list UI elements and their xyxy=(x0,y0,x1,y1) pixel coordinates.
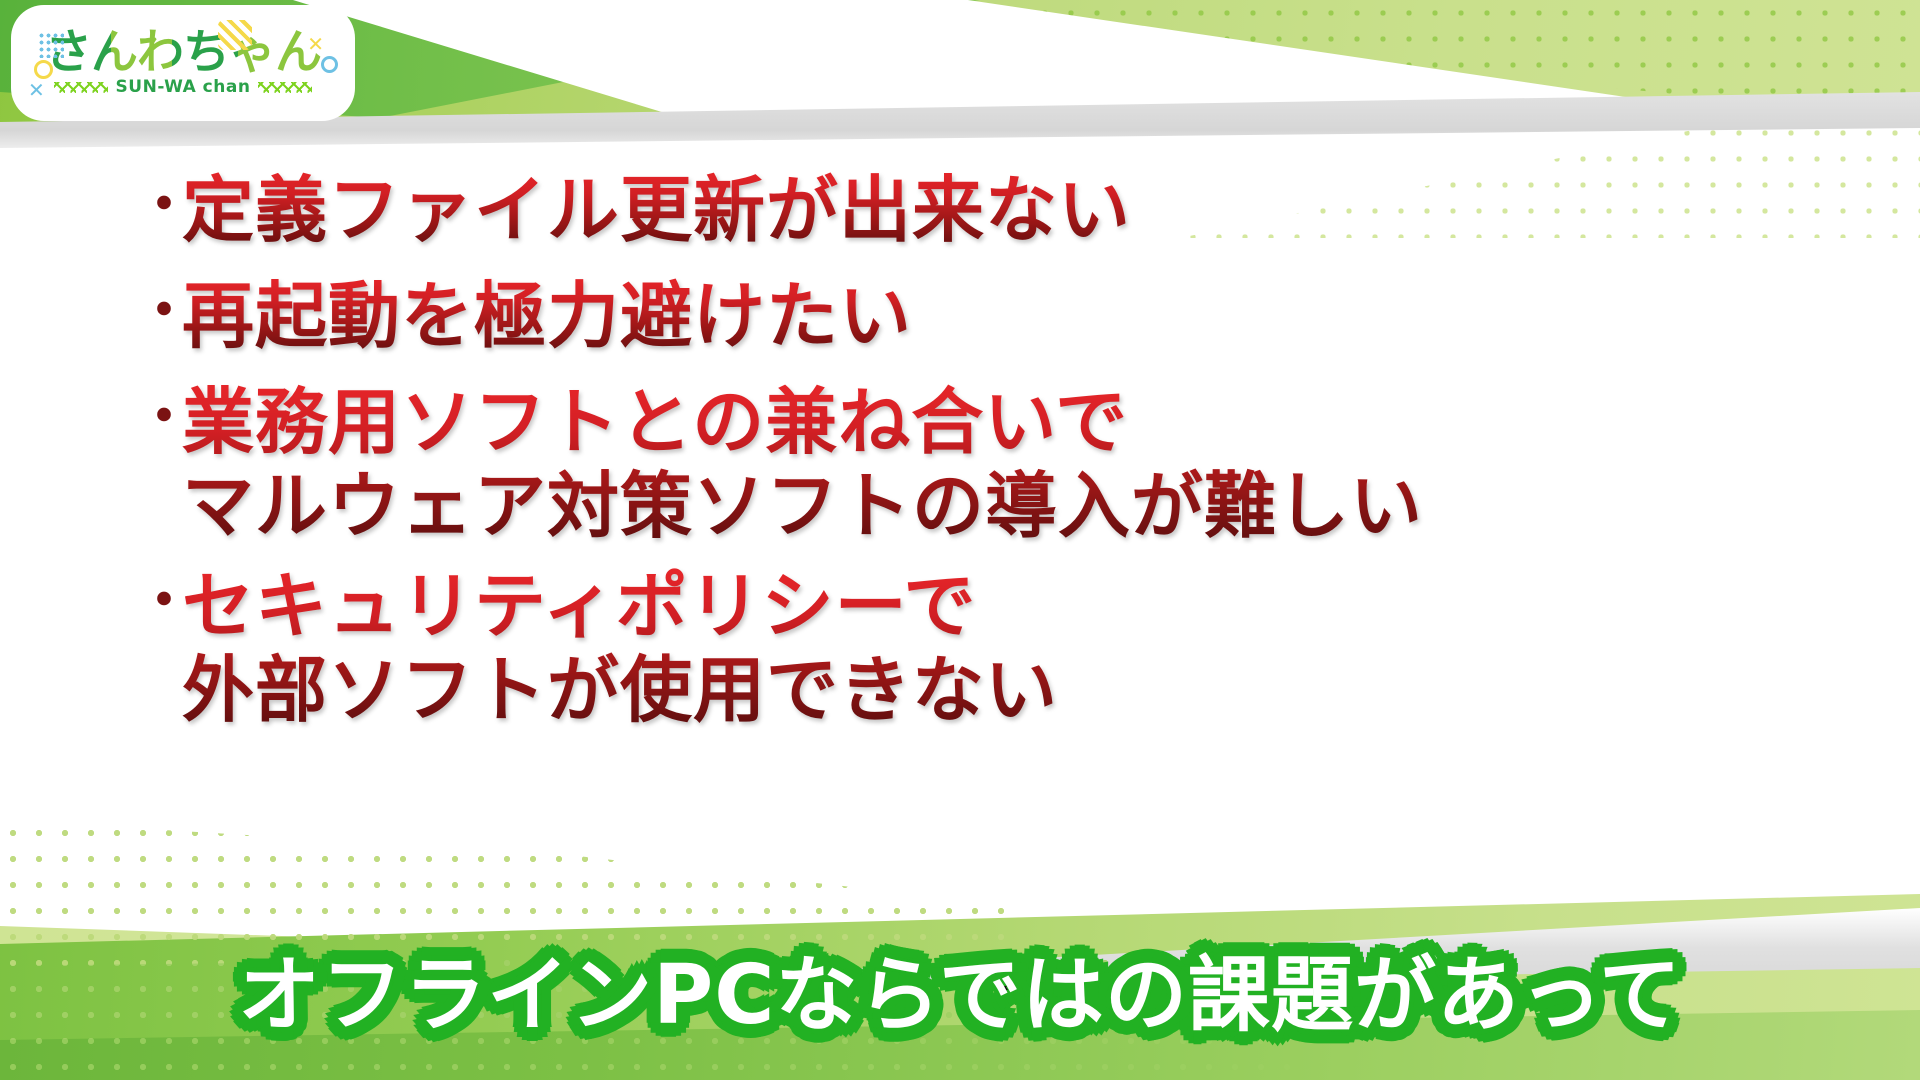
sunwa-chan-logo: ✕ ✕ さんわちゃん SUN-WA chan xyxy=(18,12,348,114)
logo-sub-text: SUN-WA chan xyxy=(116,77,251,97)
top-dot-pattern xyxy=(980,0,1920,140)
yellow-x-icon: ✕ xyxy=(307,34,324,54)
blue-x-icon: ✕ xyxy=(28,80,45,100)
bullet-text-2: 再起動を極力避けたい xyxy=(182,274,1836,358)
bullet-marker-icon: ・ xyxy=(136,376,182,460)
zigzag-right-icon xyxy=(258,82,312,93)
bullet-text-1: 定義ファイル更新が出来ない xyxy=(182,168,1836,252)
bottom-dot-pattern xyxy=(0,820,1100,1040)
bottom-dark-dot-pattern xyxy=(0,950,1300,1080)
bullet-text-3: 業務用ソフトとの兼ね合いで マルウェア対策ソフトの導入が難しい xyxy=(182,380,1836,548)
bullet-marker-icon: ・ xyxy=(136,164,182,248)
list-item: ・ 定義ファイル更新が出来ない xyxy=(136,168,1836,252)
bullet-marker-icon: ・ xyxy=(136,560,182,644)
logo-sub-row: SUN-WA chan xyxy=(54,77,313,97)
subtitle-caption: オフラインPCならではの課題があって xyxy=(0,948,1920,1044)
zigzag-left-icon xyxy=(54,82,108,93)
subtitle-caption-text: オフラインPCならではの課題があって xyxy=(238,948,1682,1044)
bottom-pale-green-band xyxy=(0,850,1920,1080)
list-item: ・ 再起動を極力避けたい xyxy=(136,274,1836,358)
top-white-diagonal xyxy=(260,0,1660,160)
list-item: ・ セキュリティポリシーで 外部ソフトが使用できない xyxy=(136,564,1836,732)
bottom-green-band xyxy=(0,870,1920,1080)
bullet-list: ・ 定義ファイル更新が出来ない ・ 再起動を極力避けたい ・ 業務用ソフトとの兼… xyxy=(136,168,1836,748)
grid-dots-icon xyxy=(38,32,64,58)
list-item: ・ 業務用ソフトとの兼ね合いで マルウェア対策ソフトの導入が難しい xyxy=(136,380,1836,548)
blue-circle-icon xyxy=(321,56,338,73)
bullet-text-4: セキュリティポリシーで 外部ソフトが使用できない xyxy=(182,564,1836,732)
yellow-circle-icon xyxy=(34,60,53,79)
bottom-deep-green-strip xyxy=(0,1010,1920,1080)
yellow-stripe-icon xyxy=(218,20,252,50)
slide-canvas: ✕ ✕ さんわちゃん SUN-WA chan ・ 定義ファイル更新が出来ない ・… xyxy=(0,0,1920,1080)
logo-main-text: さんわちゃん xyxy=(45,29,321,76)
bullet-marker-icon: ・ xyxy=(136,270,182,354)
bottom-grey-stripe xyxy=(760,908,1920,988)
